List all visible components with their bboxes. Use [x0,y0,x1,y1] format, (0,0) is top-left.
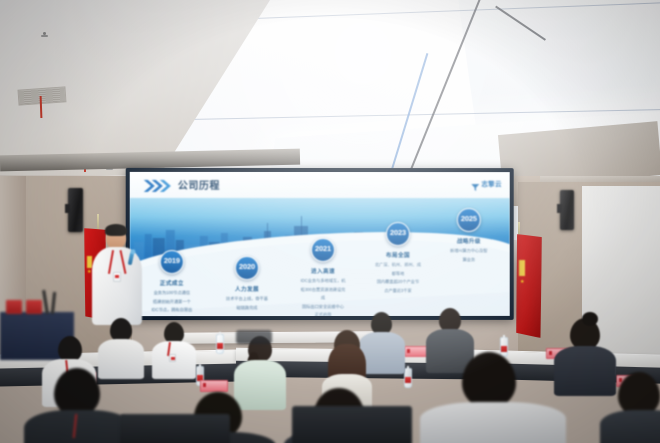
brand-logo: 志擎云 [470,178,501,188]
funnel-logo-icon [470,179,479,188]
slide-company-history: 公司历程 志擎云 [130,172,510,316]
slide-title: 公司历程 [178,177,220,192]
red-box-item [6,300,22,314]
name-placard [200,380,228,392]
milestone-body: 北广深、杭州、郑州、成 都等地 国内覆盖超20个产业节 点产量近3千家 [362,262,434,294]
milestone-2020: 2020 人力发展 技术平台上线，骨干基 础链路完成 [211,256,283,313]
milestone-heading: 正式成立 [136,279,208,287]
chair [120,414,230,443]
milestone-year-badge: 2020 [235,256,259,280]
air-vent [18,86,67,105]
milestone-heading: 布局全国 [362,251,434,259]
presentation-display[interactable]: 公司历程 志擎云 [126,168,514,320]
milestone-heading: 人力发展 [211,285,283,293]
red-box-item [26,300,42,314]
water-bottle [404,368,412,388]
water-bottle [500,337,508,357]
milestone-year-badge: 2021 [311,238,335,262]
double-chevron-right-icon [144,179,172,191]
milestone-2019: 2019 正式成立 业务为100节点通信 搭建创始开通第一个 IDC节点，拥有自… [136,250,208,316]
milestone-year-badge: 2025 [457,208,481,232]
milestone-body: 业务为100节点通信 搭建创始开通第一个 IDC节点，拥有自营出 口带宽 [136,290,208,316]
chinese-flag-right: ★ [516,234,542,338]
presenter-badge [113,272,121,282]
milestone-heading: 进入高速 [287,267,359,275]
milestone-year-badge: 2023 [386,222,410,246]
brand-name: 志擎云 [481,178,501,188]
hair-bun [582,312,598,326]
milestone-2023: 2023 布局全国 北广深、杭州、郑州、成 都等地 国内覆盖超20个产业节 点产… [362,222,434,296]
wall-speaker-right [560,190,574,230]
chair [236,330,272,344]
milestone-body: 新增AI算力中心及智 算业务 [433,248,505,263]
milestone-body: IDC业务与多地域互，机 柜300台置资源池建设完 成 国际出口安全运维中心 正… [287,278,359,316]
milestone-year-badge: 2019 [160,250,184,274]
water-bottle [216,334,224,354]
milestone-2025: 2025 战略升级 新增AI算力中心及智 算业务 [433,208,505,265]
presenter-torso [92,247,142,325]
display-screen-surface: 公司历程 志擎云 [130,172,510,316]
conference-room-screenshot: ★ ★ 公司历程 [0,0,660,443]
chair [292,406,412,443]
milestone-body: 技术平台上线，骨干基 础链路完成 [211,296,283,311]
sprinkler-icon [43,32,46,35]
milestone-heading: 战略升级 [433,237,505,245]
wall-speaker-left [68,188,83,232]
milestone-2021: 2021 进入高速 IDC业务与多地域互，机 柜300台置资源池建设完 成 国际… [287,238,359,316]
presenter-hair [105,224,127,236]
